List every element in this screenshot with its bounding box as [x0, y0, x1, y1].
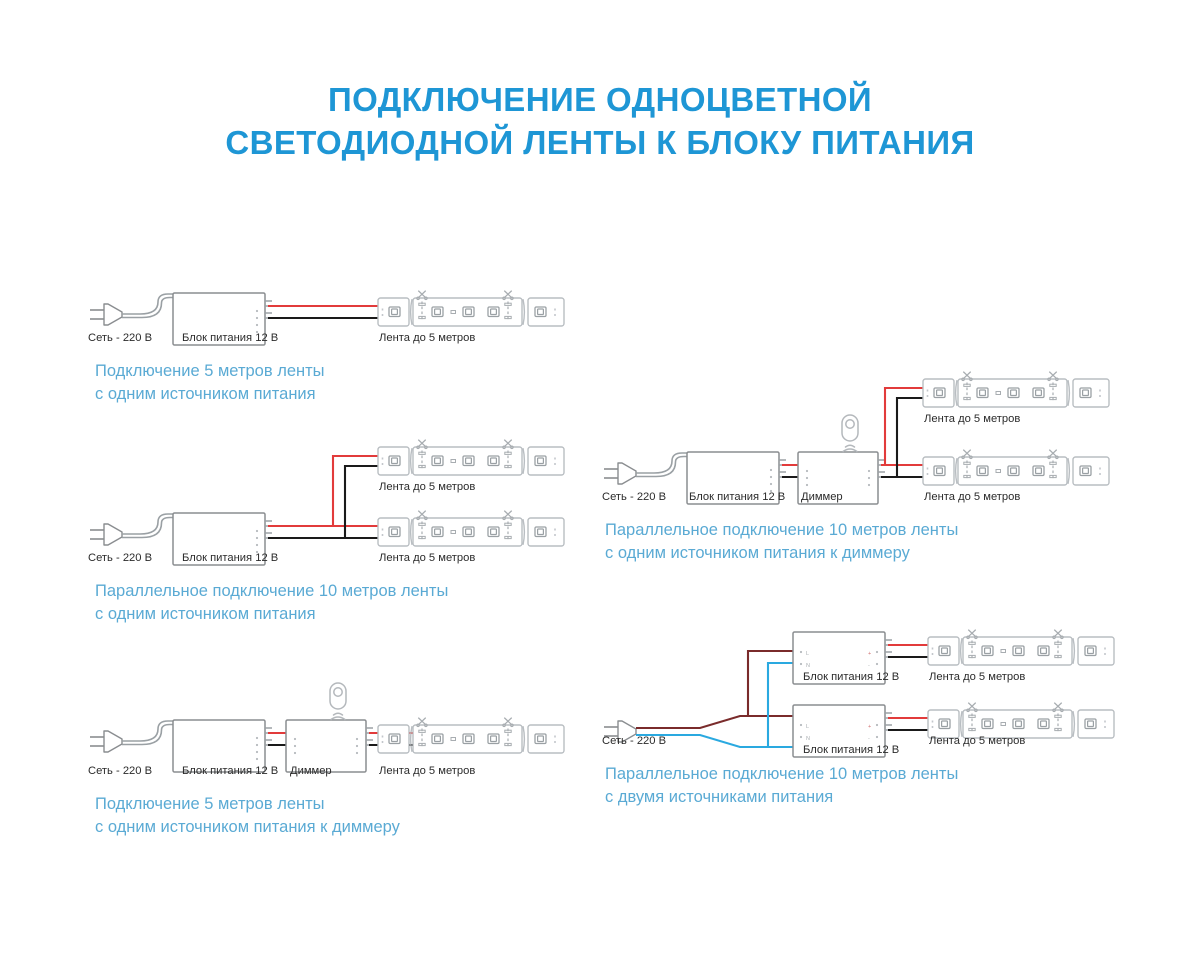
label-strip: Лента до 5 метров [929, 671, 1025, 684]
page-title-line-1: ПОДКЛЮЧЕНИЕ ОДНОЦВЕТНОЙ [0, 78, 1200, 121]
diagram-5-group [604, 630, 1114, 757]
caption-line-2: с одним источником питания к диммеру [95, 816, 400, 839]
mains-plug-icon [90, 731, 122, 752]
label-strip: Лента до 5 метров [924, 413, 1020, 426]
label-psu: Блок питания 12 В [689, 491, 785, 504]
poster-canvas: ПОДКЛЮЧЕНИЕ ОДНОЦВЕТНОЙ СВЕТОДИОДНОЙ ЛЕН… [0, 0, 1200, 960]
remote-control-icon [842, 415, 858, 452]
label-strip: Лента до 5 метров [929, 735, 1025, 748]
label-mains: Сеть - 220 В [88, 552, 152, 565]
caption-line-1: Параллельное подключение 10 метров ленты [605, 519, 958, 542]
led-strip [928, 630, 1114, 665]
led-strip [923, 372, 1109, 407]
wire-positive [268, 456, 380, 526]
page-title: ПОДКЛЮЧЕНИЕ ОДНОЦВЕТНОЙ СВЕТОДИОДНОЙ ЛЕН… [0, 78, 1200, 164]
diagram-4-caption: Параллельное подключение 10 метров ленты… [605, 519, 958, 565]
page-title-line-2: СВЕТОДИОДНОЙ ЛЕНТЫ К БЛОКУ ПИТАНИЯ [0, 121, 1200, 164]
caption-line-2: с одним источником питания [95, 603, 448, 626]
label-strip: Лента до 5 метров [379, 552, 475, 565]
label-strip: Лента до 5 метров [379, 765, 475, 778]
led-strip [378, 511, 564, 546]
mains-plug-icon [90, 524, 122, 545]
label-psu: Блок питания 12 В [803, 744, 899, 757]
caption-line-2: с одним источником питания [95, 383, 325, 406]
caption-line-2: с одним источником питания к диммеру [605, 542, 958, 565]
label-psu: Блок питания 12 В [803, 671, 899, 684]
label-mains: Сеть - 220 В [602, 735, 666, 748]
led-strip [378, 440, 564, 475]
diagram-2-caption: Параллельное подключение 10 метров ленты… [95, 580, 448, 626]
led-strip [928, 703, 1114, 738]
caption-line-1: Параллельное подключение 10 метров ленты [605, 763, 958, 786]
label-psu: Блок питания 12 В [182, 765, 278, 778]
led-strip [378, 718, 564, 753]
wire-negative [881, 398, 925, 477]
label-strip: Лента до 5 метров [924, 491, 1020, 504]
wire-neutral-blue [768, 663, 795, 747]
caption-line-1: Параллельное подключение 10 метров ленты [95, 580, 448, 603]
diagram-1-caption: Подключение 5 метров ленты с одним источ… [95, 360, 325, 406]
wire-line-brown [748, 651, 795, 716]
label-strip: Лента до 5 метров [379, 481, 475, 494]
label-mains: Сеть - 220 В [602, 491, 666, 504]
led-strip [923, 450, 1109, 485]
remote-control-icon [330, 683, 346, 720]
label-dimmer: Диммер [801, 491, 843, 504]
diagram-1-group [90, 291, 564, 345]
diagram-3-caption: Подключение 5 метров ленты с одним источ… [95, 793, 400, 839]
diagram-3-group [90, 683, 564, 772]
wire-positive [881, 388, 925, 465]
caption-line-1: Подключение 5 метров ленты [95, 360, 325, 383]
diagram-4-group [604, 372, 1109, 504]
label-psu: Блок питания 12 В [182, 552, 278, 565]
caption-line-1: Подключение 5 метров ленты [95, 793, 400, 816]
diagram-2-group [90, 440, 564, 565]
wire-negative [268, 466, 380, 538]
label-dimmer: Диммер [290, 765, 332, 778]
caption-line-2: с двумя источниками питания [605, 786, 958, 809]
label-strip: Лента до 5 метров [379, 332, 475, 345]
diagram-5-caption: Параллельное подключение 10 метров ленты… [605, 763, 958, 809]
led-strip [378, 291, 564, 326]
mains-plug-icon [90, 304, 122, 325]
wire-line-brown [636, 716, 795, 728]
label-mains: Сеть - 220 В [88, 765, 152, 778]
label-mains: Сеть - 220 В [88, 332, 152, 345]
label-psu: Блок питания 12 В [182, 332, 278, 345]
mains-plug-icon [604, 463, 636, 484]
